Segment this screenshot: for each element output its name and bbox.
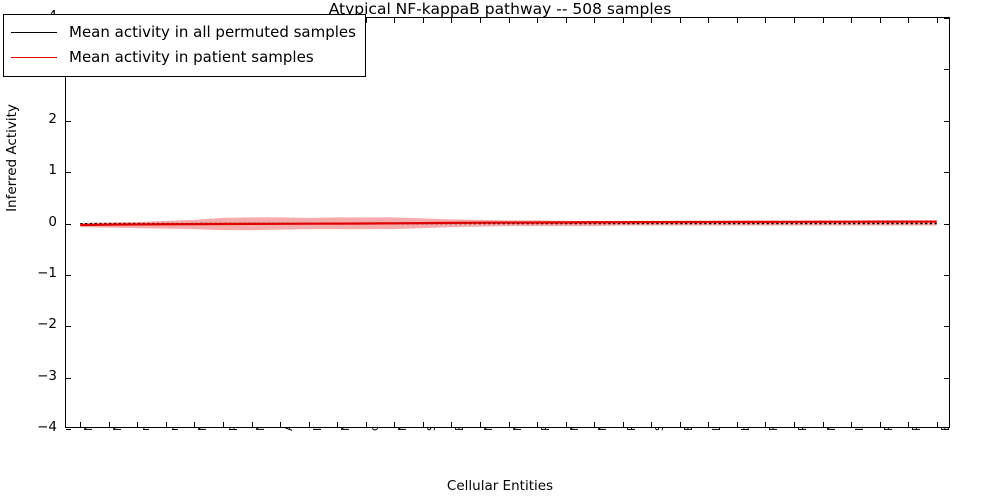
y-tick-label: −3 bbox=[19, 370, 57, 383]
y-axis-label: Inferred Activity bbox=[4, 78, 20, 238]
chart-figure: Atypical NF-kappaB pathway -- 508 sample… bbox=[0, 0, 1000, 500]
y-tick-label: −1 bbox=[19, 267, 57, 280]
x-axis-label: Cellular Entities bbox=[0, 478, 1000, 494]
y-tick-label: −4 bbox=[19, 421, 57, 434]
y-tick-label: 2 bbox=[19, 113, 57, 126]
y-tick-label: 1 bbox=[19, 164, 57, 177]
y-tick-mark bbox=[944, 429, 949, 430]
legend-item[interactable]: Mean activity in patient samples bbox=[11, 45, 356, 70]
plot-area bbox=[65, 17, 950, 428]
legend-item-label: Mean activity in all permuted samples bbox=[69, 25, 356, 40]
legend-line-icon bbox=[11, 57, 57, 58]
data-layer bbox=[66, 18, 949, 427]
legend: Mean activity in all permuted samplesMea… bbox=[3, 14, 366, 77]
legend-line-icon bbox=[11, 32, 57, 33]
y-tick-mark bbox=[66, 429, 71, 430]
legend-item[interactable]: Mean activity in all permuted samples bbox=[11, 20, 356, 45]
series-svg bbox=[66, 18, 949, 427]
y-tick-label: −2 bbox=[19, 318, 57, 331]
legend-item-label: Mean activity in patient samples bbox=[69, 50, 314, 65]
y-tick-label: 0 bbox=[19, 216, 57, 229]
